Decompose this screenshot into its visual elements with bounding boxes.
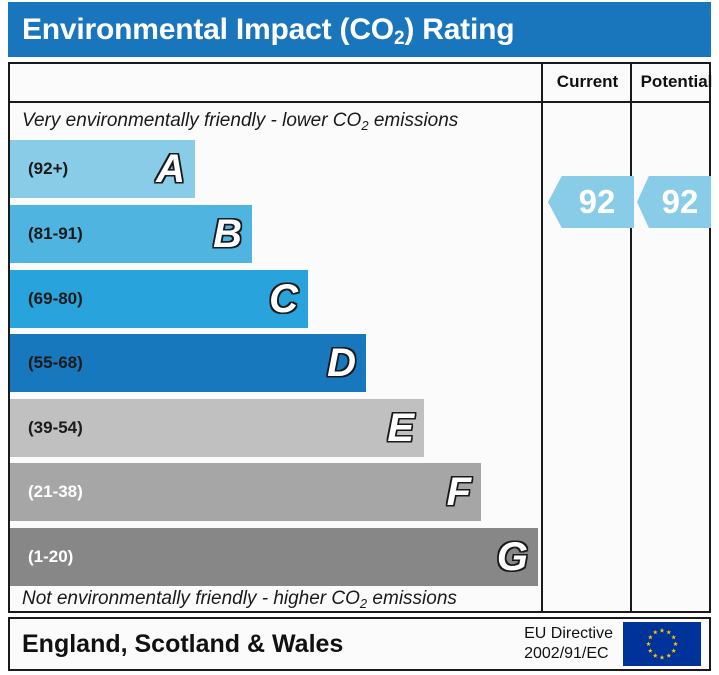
- rating-band-b: (81-91)B: [10, 205, 252, 263]
- footer-directive-line2: 2002/91/EC: [524, 644, 613, 664]
- rating-value-current: 92: [567, 183, 616, 221]
- caption-bottom-subscript: 2: [360, 596, 367, 611]
- rating-band-a: (92+)A: [10, 140, 195, 198]
- footer-directive: EU Directive 2002/91/EC: [524, 624, 613, 664]
- band-range-label: (1-20): [10, 547, 73, 567]
- column-header-current: Current: [541, 62, 632, 101]
- rating-band-d: (55-68)D: [10, 334, 366, 392]
- band-range-label: (69-80): [10, 289, 83, 309]
- rating-band-e: (39-54)E: [10, 399, 424, 457]
- band-range-label: (21-38): [10, 482, 83, 502]
- rating-arrow-current: 92: [548, 176, 634, 228]
- caption-bottom-pre: Not environmentally friendly - higher CO: [22, 588, 360, 609]
- footer-region-label: England, Scotland & Wales: [10, 630, 343, 659]
- band-letter-e: E: [387, 408, 414, 448]
- column-divider-current: [541, 62, 543, 613]
- column-header-potential: Potential: [630, 62, 719, 101]
- caption-bottom-post: emissions: [367, 588, 457, 609]
- band-letter-a: A: [156, 149, 185, 189]
- band-range-label: (39-54): [10, 418, 83, 438]
- rating-band-f: (21-38)F: [10, 463, 481, 521]
- rating-arrow-potential: 92: [637, 176, 711, 228]
- column-divider-potential: [630, 62, 632, 613]
- band-letter-c: C: [269, 279, 298, 319]
- band-range-label: (81-91): [10, 224, 83, 244]
- band-range-label: (92+): [10, 159, 68, 179]
- rating-bands: (92+)A(81-91)B(69-80)C(55-68)D(39-54)E(2…: [0, 0, 541, 675]
- band-range-label: (55-68): [10, 353, 83, 373]
- footer-directive-line1: EU Directive: [524, 624, 613, 644]
- chart-footer: England, Scotland & Wales EU Directive 2…: [8, 617, 711, 671]
- rating-band-g: (1-20)G: [10, 528, 538, 586]
- band-letter-g: G: [497, 537, 528, 577]
- rating-band-c: (69-80)C: [10, 270, 308, 328]
- band-letter-d: D: [327, 343, 356, 383]
- band-letter-f: F: [447, 472, 471, 512]
- epc-environmental-impact-chart: Environmental Impact (CO2) Rating Curren…: [0, 0, 719, 675]
- band-letter-b: B: [213, 214, 242, 254]
- rating-value-potential: 92: [650, 183, 699, 221]
- caption-bottom: Not environmentally friendly - higher CO…: [22, 588, 457, 610]
- eu-flag-icon: [623, 622, 701, 666]
